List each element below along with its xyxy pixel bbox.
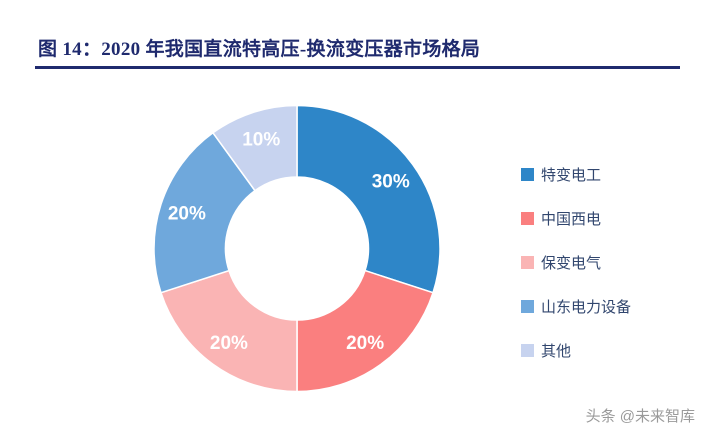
chart-legend: 特变电工中国西电保变电气山东电力设备其他: [521, 152, 696, 372]
title-divider: [35, 66, 680, 69]
donut-chart-svg: 30%20%20%20%10%: [154, 105, 440, 392]
donut-slice-label: 20%: [168, 204, 206, 225]
legend-item[interactable]: 特变电工: [521, 152, 696, 196]
donut-slice-label: 20%: [346, 333, 384, 354]
page-title: 图 14：2020 年我国直流特高压-换流变压器市场格局: [38, 34, 480, 61]
legend-swatch-icon: [521, 212, 534, 225]
donut-slice[interactable]: [297, 271, 433, 392]
legend-item[interactable]: 保变电气: [521, 240, 696, 284]
legend-item-label: 保变电气: [541, 252, 601, 273]
donut-slice-label: 20%: [210, 333, 248, 354]
legend-swatch-icon: [521, 256, 534, 269]
watermark-text: 头条 @未来智库: [586, 405, 695, 426]
donut-slice[interactable]: [297, 106, 440, 293]
legend-item-label: 其他: [541, 340, 571, 361]
legend-item[interactable]: 山东电力设备: [521, 284, 696, 328]
legend-item[interactable]: 中国西电: [521, 196, 696, 240]
legend-swatch-icon: [521, 344, 534, 357]
legend-item-label: 特变电工: [541, 164, 601, 185]
donut-slice-label: 10%: [242, 129, 280, 150]
legend-item[interactable]: 其他: [521, 328, 696, 372]
donut-slice-label: 30%: [372, 171, 410, 192]
donut-chart: 30%20%20%20%10%: [154, 105, 440, 392]
legend-swatch-icon: [521, 300, 534, 313]
legend-item-label: 中国西电: [541, 208, 601, 229]
figure-container: 图 14：2020 年我国直流特高压-换流变压器市场格局 30%20%20%20…: [0, 0, 713, 436]
donut-slice-group: [154, 106, 440, 392]
legend-item-label: 山东电力设备: [541, 296, 631, 317]
legend-swatch-icon: [521, 168, 534, 181]
donut-slice[interactable]: [161, 271, 297, 392]
